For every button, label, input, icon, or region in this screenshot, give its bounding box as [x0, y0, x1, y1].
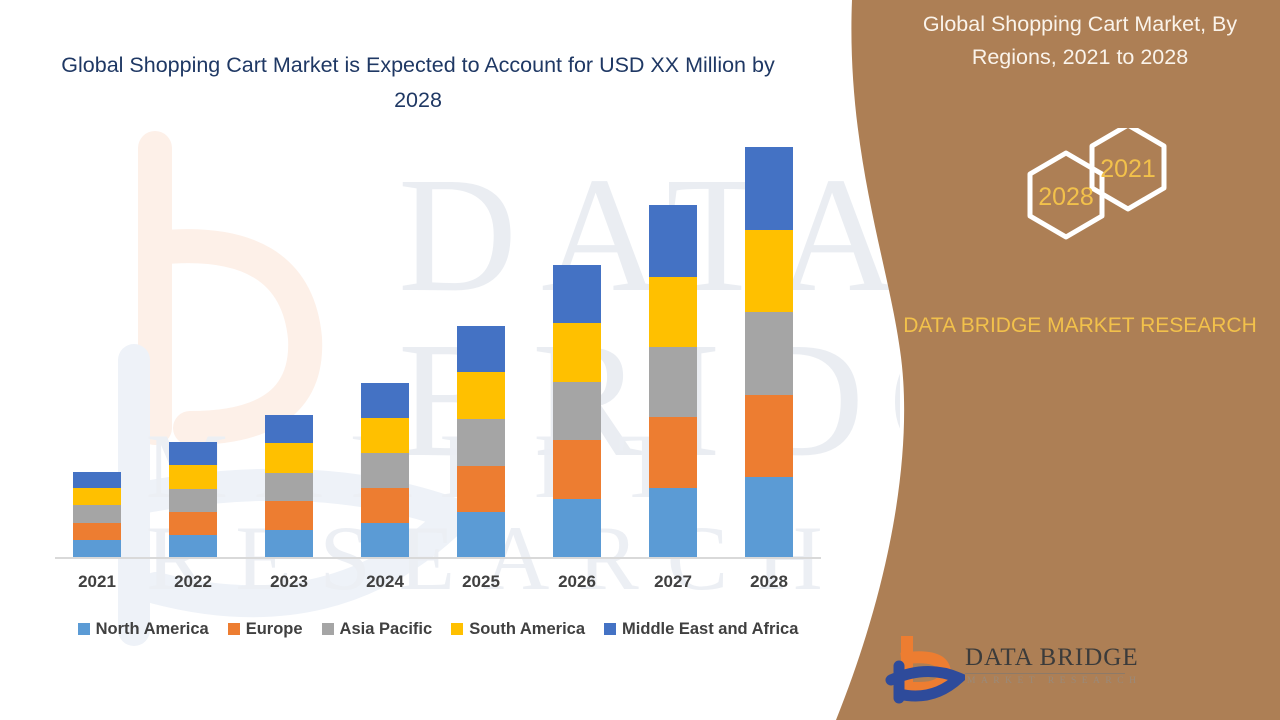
chart-legend: North AmericaEuropeAsia PacificSouth Ame…: [55, 616, 821, 642]
bar-segment[interactable]: [265, 530, 313, 558]
bar-segment[interactable]: [73, 523, 121, 541]
bar-2025[interactable]: [457, 326, 505, 558]
legend-label: Middle East and Africa: [622, 620, 798, 639]
bar-segment[interactable]: [649, 417, 697, 488]
logo-tagline: MARKET RESEARCH: [967, 676, 1141, 686]
legend-item[interactable]: Europe: [228, 620, 303, 639]
logo-wordmark: DATA BRIDGE: [965, 644, 1139, 672]
x-axis-label-2027: 2027: [625, 572, 721, 592]
brand-name-text: DATA BRIDGE MARKET RESEARCH: [890, 310, 1270, 342]
bar-2022[interactable]: [169, 442, 217, 558]
brand-panel: Global Shopping Cart Market, By Regions,…: [900, 0, 1280, 720]
x-axis-label-2026: 2026: [529, 572, 625, 592]
bar-segment[interactable]: [649, 488, 697, 558]
x-axis-label-2028: 2028: [721, 572, 817, 592]
logo-divider: [965, 673, 1125, 674]
bar-2026[interactable]: [553, 265, 601, 558]
bar-segment[interactable]: [73, 472, 121, 488]
infographic-canvas: DATA BRIDGE MARKET RESEARCH Global Shopp…: [0, 0, 1280, 720]
bar-2023[interactable]: [265, 415, 313, 558]
chart-panel: DATA BRIDGE MARKET RESEARCH Global Shopp…: [0, 0, 900, 720]
bar-2027[interactable]: [649, 205, 697, 558]
legend-item[interactable]: North America: [78, 620, 209, 639]
chart-plot-area: [55, 120, 821, 558]
bar-segment[interactable]: [169, 465, 217, 489]
bar-segment[interactable]: [265, 415, 313, 443]
legend-swatch-icon: [451, 623, 463, 635]
chart-title: Global Shopping Cart Market is Expected …: [56, 48, 780, 118]
bar-segment[interactable]: [265, 443, 313, 473]
x-axis-label-2023: 2023: [241, 572, 337, 592]
legend-label: Asia Pacific: [340, 620, 433, 639]
company-logo: DATA BRIDGE MARKET RESEARCH: [885, 636, 1145, 706]
bar-2021[interactable]: [73, 472, 121, 558]
x-axis-labels: 20212022202320242025202620272028: [55, 572, 821, 602]
bar-segment[interactable]: [553, 265, 601, 323]
legend-label: South America: [469, 620, 585, 639]
legend-swatch-icon: [322, 623, 334, 635]
bar-segment[interactable]: [361, 453, 409, 488]
hexagon-2021-label: 2021: [1100, 155, 1156, 183]
legend-swatch-icon: [604, 623, 616, 635]
x-axis-label-2021: 2021: [49, 572, 145, 592]
bar-segment[interactable]: [457, 512, 505, 558]
brand-panel-title: Global Shopping Cart Market, By Regions,…: [890, 8, 1270, 74]
x-axis-label-2024: 2024: [337, 572, 433, 592]
bar-segment[interactable]: [745, 312, 793, 395]
legend-label: North America: [96, 620, 209, 639]
bar-segment[interactable]: [553, 499, 601, 558]
x-axis-line: [55, 557, 821, 559]
bar-segment[interactable]: [361, 383, 409, 418]
legend-item[interactable]: Middle East and Africa: [604, 620, 798, 639]
bar-segment[interactable]: [649, 347, 697, 417]
bar-segment[interactable]: [457, 419, 505, 466]
bar-segment[interactable]: [169, 512, 217, 535]
bar-segment[interactable]: [745, 477, 793, 558]
bar-2024[interactable]: [361, 383, 409, 558]
bar-segment[interactable]: [73, 540, 121, 558]
x-axis-label-2022: 2022: [145, 572, 241, 592]
bar-segment[interactable]: [361, 488, 409, 523]
bar-segment[interactable]: [169, 489, 217, 512]
bar-segment[interactable]: [745, 230, 793, 312]
bar-segment[interactable]: [553, 440, 601, 499]
legend-item[interactable]: Asia Pacific: [322, 620, 433, 639]
bar-segment[interactable]: [265, 501, 313, 529]
bar-segment[interactable]: [553, 323, 601, 382]
legend-item[interactable]: South America: [451, 620, 585, 639]
hexagon-2028-label: 2028: [1038, 183, 1094, 211]
bar-segment[interactable]: [73, 505, 121, 523]
bar-segment[interactable]: [169, 535, 217, 558]
bar-segment[interactable]: [73, 488, 121, 506]
bar-segment[interactable]: [745, 147, 793, 229]
bar-segment[interactable]: [457, 326, 505, 372]
hexagon-badges: 2028 2021: [980, 128, 1180, 288]
bar-segment[interactable]: [361, 418, 409, 453]
bar-segment[interactable]: [649, 205, 697, 276]
logo-mark-icon: [885, 636, 965, 706]
bar-segment[interactable]: [457, 466, 505, 512]
bar-2028[interactable]: [745, 147, 793, 558]
legend-swatch-icon: [78, 623, 90, 635]
bar-segment[interactable]: [265, 473, 313, 501]
bar-segment[interactable]: [457, 372, 505, 419]
bar-segment[interactable]: [553, 382, 601, 440]
bar-segment[interactable]: [745, 395, 793, 477]
x-axis-label-2025: 2025: [433, 572, 529, 592]
bar-segment[interactable]: [361, 523, 409, 558]
bar-segment[interactable]: [649, 277, 697, 347]
bar-segment[interactable]: [169, 442, 217, 465]
legend-label: Europe: [246, 620, 303, 639]
legend-swatch-icon: [228, 623, 240, 635]
